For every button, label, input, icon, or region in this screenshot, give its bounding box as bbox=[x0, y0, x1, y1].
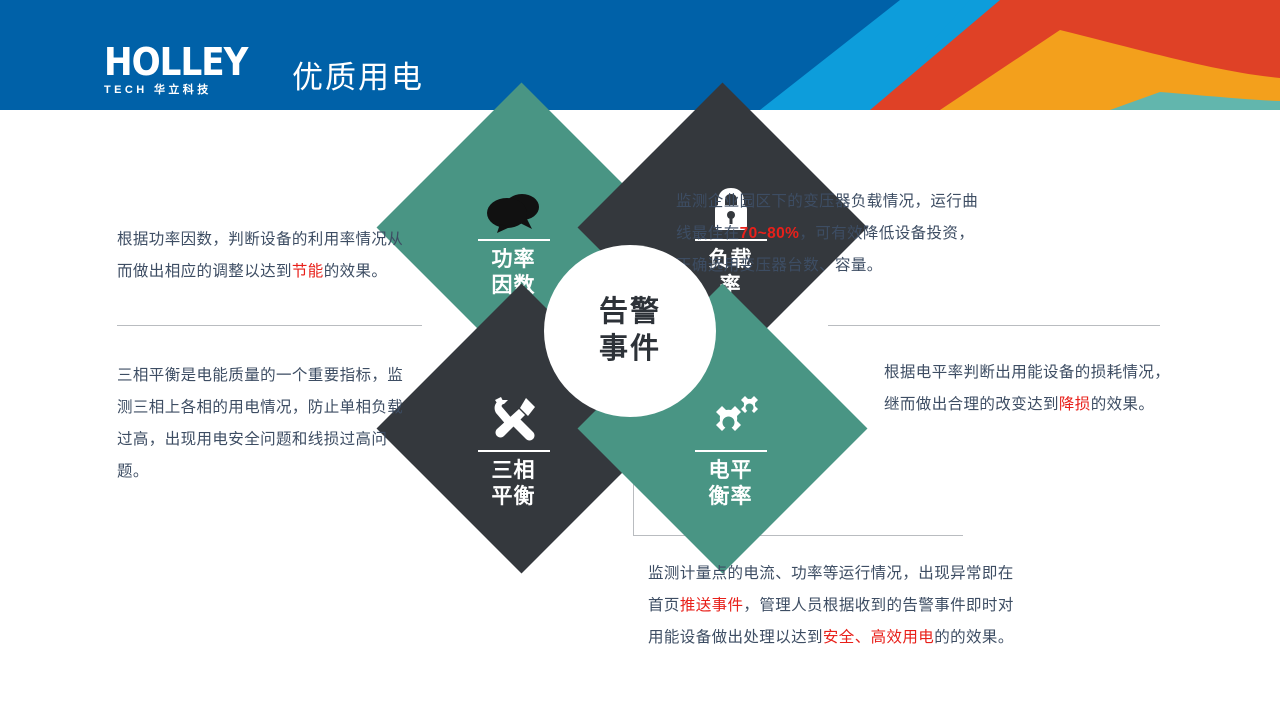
tools-icon bbox=[488, 392, 540, 444]
body-text: 的的效果。 bbox=[934, 629, 1014, 646]
brand-logo-wordmark: HOLLEY bbox=[104, 43, 264, 81]
note-power-factor: 根据功率因数，判断设备的利用率情况从而做出相应的调整以达到节能的效果。 bbox=[117, 224, 409, 288]
note-level-balance: 根据电平率判断出用能设备的损耗情况，继而做出合理的改变达到降损的效果。 bbox=[884, 357, 1176, 421]
page-title: 优质用电 bbox=[292, 52, 424, 97]
highlighted-text: 安全、高效用电 bbox=[823, 629, 934, 646]
body-text: 的效果。 bbox=[1091, 396, 1155, 413]
highlighted-text: 推送事件 bbox=[680, 597, 744, 614]
node-rule bbox=[695, 450, 767, 452]
body-text: 三相平衡是电能质量的一个重要指标，监测三相上各相的用电情况，防止单相负载过高，出… bbox=[117, 367, 403, 480]
node-rule bbox=[478, 450, 550, 452]
page-header: HOLLEY TECH 华立科技 优质用电 bbox=[0, 0, 1280, 110]
header-decorative-art bbox=[640, 0, 1280, 110]
brand-logo: HOLLEY TECH 华立科技 bbox=[104, 43, 264, 99]
body-text: 的效果。 bbox=[324, 263, 388, 280]
speech-bubbles-icon bbox=[486, 181, 542, 233]
node-label-line2: 平衡 bbox=[492, 484, 536, 510]
note-three-phase: 三相平衡是电能质量的一个重要指标，监测三相上各相的用电情况，防止单相负载过高，出… bbox=[117, 360, 409, 488]
note-alarm-event: 监测计量点的电流、功率等运行情况，出现异常即在首页推送事件，管理人员根据收到的告… bbox=[648, 558, 1020, 654]
divider-left bbox=[117, 325, 422, 326]
diagram-hub: 告警 事件 bbox=[544, 245, 716, 417]
gears-icon bbox=[702, 392, 760, 444]
highlighted-text: 降损 bbox=[1059, 396, 1091, 413]
divider-right bbox=[828, 325, 1160, 326]
note-load-rate: 监测企业园区下的变压器负载情况，运行曲线最佳在70~80%，可有效降低设备投资，… bbox=[676, 186, 982, 282]
node-label-line2: 衡率 bbox=[709, 484, 753, 510]
hub-label-line1: 告警 bbox=[599, 294, 661, 331]
highlighted-text: 节能 bbox=[292, 263, 324, 280]
node-label-line1: 电平 bbox=[709, 458, 753, 484]
brand-logo-subtitle: TECH 华立科技 bbox=[104, 84, 264, 97]
highlighted-text: 70~80% bbox=[740, 225, 800, 242]
hub-label-line2: 事件 bbox=[599, 331, 661, 368]
node-label-line1: 功率 bbox=[492, 247, 536, 273]
node-label-line1: 三相 bbox=[492, 458, 536, 484]
node-rule bbox=[478, 239, 550, 241]
